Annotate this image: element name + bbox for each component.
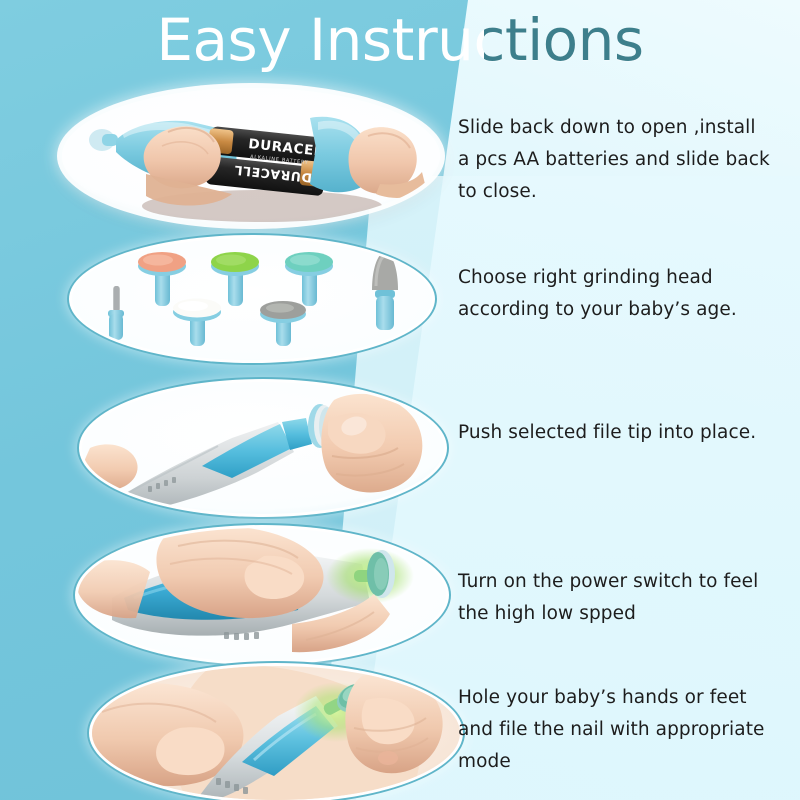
photo-install-batteries: DURACELL ALKALINE BATTERY DURACELL <box>62 88 440 224</box>
caption-step-5-line-3: mode <box>458 746 765 778</box>
caption-step-5-line-1: Hole your baby’s hands or feet <box>458 682 765 714</box>
instructions-poster: Easy Instructions Easy Instructions <box>0 0 800 800</box>
caption-step-1: Slide back down to open ,install a pcs A… <box>458 112 770 208</box>
caption-step-1-line-3: to close. <box>458 176 770 208</box>
caption-step-5-line-2: and file the nail with appropriate <box>458 714 765 746</box>
photo-file-the-nail <box>92 666 460 800</box>
caption-step-1-line-1: Slide back down to open ,install <box>458 112 770 144</box>
photo-grinding-heads <box>72 238 432 360</box>
caption-step-2-line-1: Choose right grinding head <box>458 262 737 294</box>
page-title: Easy Instructions Easy Instructions <box>0 2 800 80</box>
caption-step-2: Choose right grinding head according to … <box>458 262 737 326</box>
caption-step-2-line-2: according to your baby’s age. <box>458 294 737 326</box>
caption-step-4: Turn on the power switch to feel the hig… <box>458 566 758 630</box>
photo-power-switch <box>78 528 446 662</box>
caption-step-4-line-1: Turn on the power switch to feel <box>458 566 758 598</box>
spinning-file-head <box>367 550 395 598</box>
photo-push-file-tip <box>82 382 444 514</box>
caption-step-3: Push selected file tip into place. <box>458 417 756 449</box>
caption-step-4-line-2: the high low spped <box>458 598 758 630</box>
caption-step-1-line-2: a pcs AA batteries and slide back <box>458 144 770 176</box>
caption-step-3-line-1: Push selected file tip into place. <box>458 417 756 449</box>
caption-step-5: Hole your baby’s hands or feet and file … <box>458 682 765 778</box>
